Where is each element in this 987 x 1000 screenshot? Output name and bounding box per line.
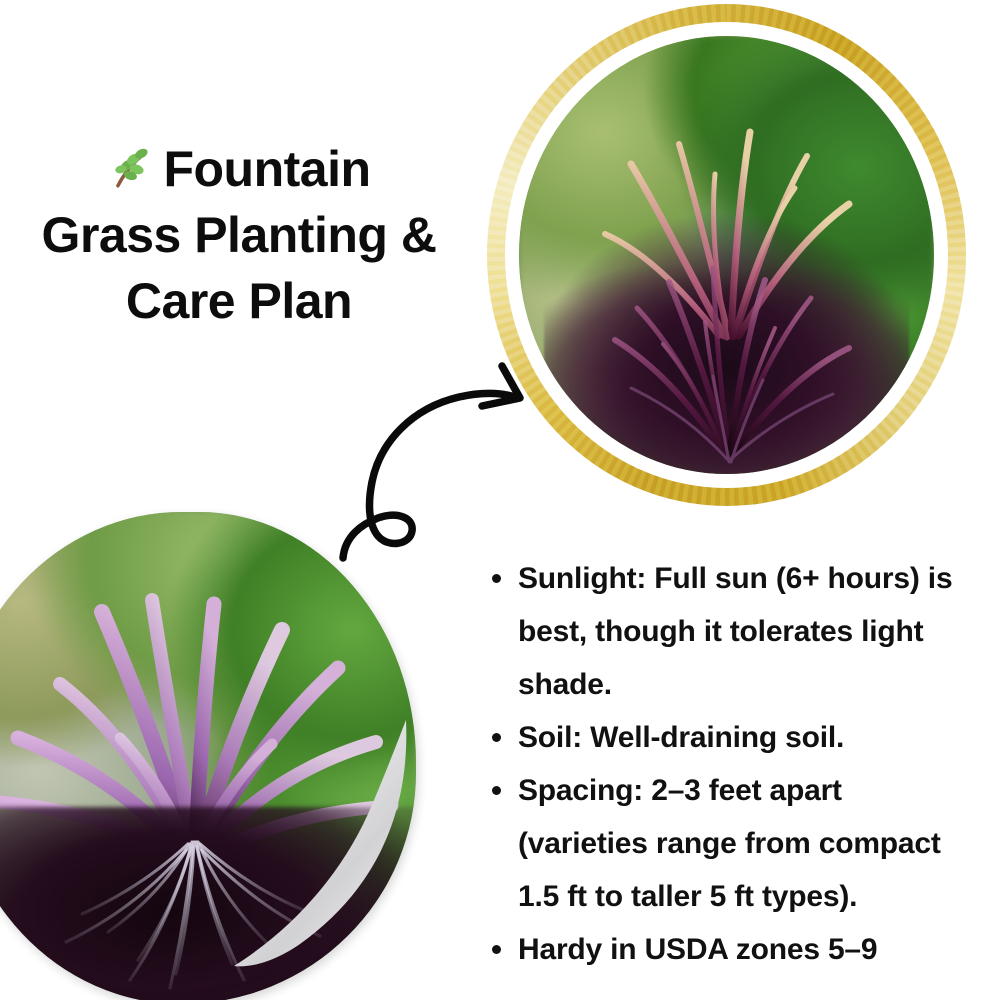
page-title-line1: Fountain <box>163 141 370 197</box>
page-title: Fountain Grass Planting & Care Plan <box>0 136 478 334</box>
purple-fountain-grass-photo <box>519 36 934 474</box>
list-item: Soil: Well-draining soil. <box>478 711 978 764</box>
herb-leaf-icon <box>107 142 157 192</box>
purple-grass-plumes-sticker <box>0 512 416 1000</box>
bottom-left-image-frame <box>0 512 416 1000</box>
top-right-image-frame <box>487 4 966 506</box>
photo-grass-detail <box>519 36 934 474</box>
poster-canvas: Fountain Grass Planting & Care Plan <box>0 0 987 1000</box>
page-title-line3: Care Plan <box>126 273 352 329</box>
list-item: Sunlight: Full sun (6+ hours) is best, t… <box>478 552 978 711</box>
list-item: Hardy in USDA zones 5–9 <box>478 923 978 976</box>
sticker-stem-strands <box>0 512 416 1000</box>
page-title-line2: Grass Planting & <box>42 207 437 263</box>
care-plan-bullet-list: Sunlight: Full sun (6+ hours) is best, t… <box>478 552 978 976</box>
list-item: Spacing: 2–3 feet apart (varieties range… <box>478 764 978 923</box>
